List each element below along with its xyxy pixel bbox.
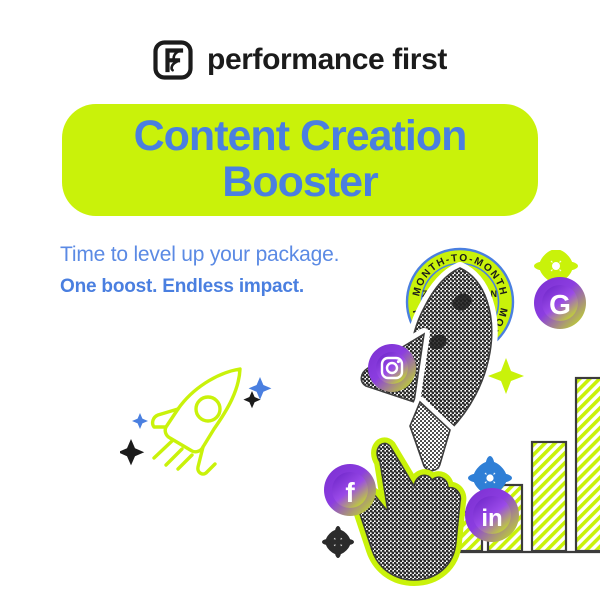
rocket-line-icon — [120, 355, 280, 480]
google-icon: G — [534, 277, 586, 329]
linkedin-icon: in — [465, 488, 519, 542]
brand-logo-text: performance first — [207, 45, 447, 75]
headline-line-1: Content Creation — [134, 115, 467, 159]
flower-black — [322, 526, 354, 558]
headline-line-2: Booster — [222, 161, 377, 205]
poster-canvas: performance first Content Creation Boost… — [0, 0, 600, 600]
google-icon-glyph: G — [549, 289, 571, 320]
instagram-icon — [368, 344, 416, 392]
facebook-icon: f — [324, 464, 376, 516]
performance-first-f-mark-icon — [153, 40, 193, 80]
subheadline-line-2: One boost. Endless impact. — [60, 276, 304, 298]
subheadline-line-1: Time to level up your package. — [60, 243, 339, 267]
collage-artwork: G f in — [310, 250, 600, 590]
linkedin-icon-glyph: in — [481, 505, 502, 532]
facebook-icon-glyph: f — [345, 477, 355, 508]
headline-chip: Content Creation Booster — [62, 104, 538, 216]
brand-logo: performance first — [0, 40, 600, 80]
